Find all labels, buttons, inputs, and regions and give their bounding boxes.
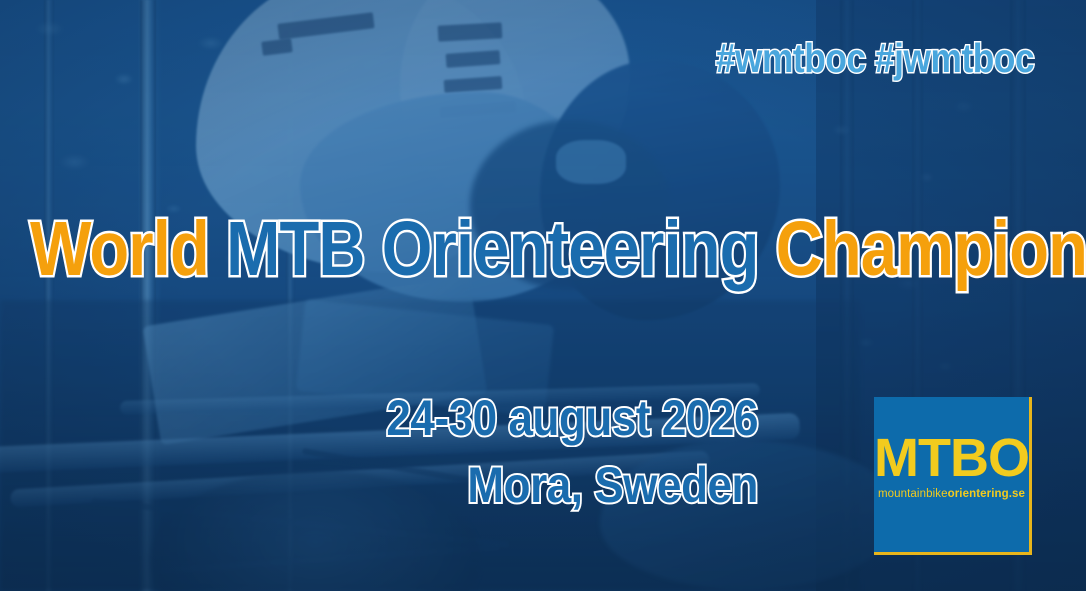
title-part-world: World [30,206,209,292]
event-banner: #wmtboc #jwmtboc World MTB Orienteering … [0,0,1086,591]
mtbo-tagline-bold: orientering.se [948,488,1025,500]
title-part-championships: Championships [776,206,1086,292]
page-title: World MTB Orienteering Championships [30,211,897,288]
mtbo-logo-wordmark: MTBO [874,431,1029,485]
title-part-mtb-orienteering: MTB Orienteering [226,206,758,292]
hashtags-text: #wmtboc #jwmtboc [716,38,1034,79]
mtbo-tagline-light: mountainbike [878,488,948,500]
event-dates: 24-30 august 2026 [91,392,758,445]
title-space [759,206,776,292]
mtbo-logo-tagline: mountainbikeorientering.se [874,489,1029,501]
event-location: Mora, Sweden [91,459,758,512]
title-space [209,206,226,292]
mtbo-logo[interactable]: MTBO mountainbikeorientering.se [874,397,1029,552]
event-details: 24-30 august 2026 Mora, Sweden [0,392,758,512]
